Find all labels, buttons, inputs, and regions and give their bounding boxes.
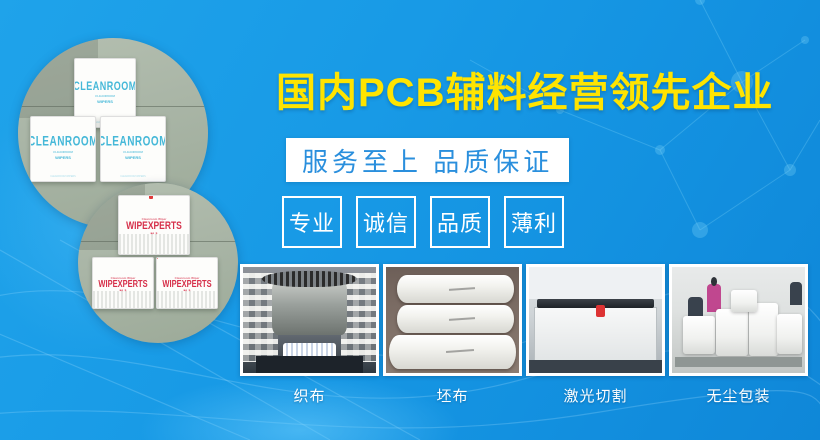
pack-sub-text: CLEANROOM xyxy=(53,150,73,154)
wipe-bale xyxy=(683,316,715,354)
process-thumb-cleanroom-packing[interactable] xyxy=(669,264,808,376)
process-thumb-weaving[interactable] xyxy=(240,264,379,376)
pack-sub-text: CLEANROOM xyxy=(95,94,115,98)
work-bench xyxy=(675,357,803,367)
pack-product-text: WIPERS xyxy=(97,99,113,104)
worker-figure xyxy=(790,282,802,305)
banner-subtitle-box: 服务至上 品质保证 xyxy=(286,138,569,182)
process-caption: 无尘包装 xyxy=(706,385,770,406)
room-wall xyxy=(529,267,662,299)
pack-product-text: WIPERS xyxy=(55,155,71,160)
process-item-cleanroom-packing[interactable]: 无尘包装 xyxy=(669,264,808,406)
keyword-tag-integrity[interactable]: 诚信 xyxy=(356,196,416,248)
fabric-roll xyxy=(397,305,514,333)
wipexperts-pack-top: Cleanroom Wiper WIPEXPERTS M-3 xyxy=(118,195,190,255)
pack-brand-text: WIPEXPERTS xyxy=(162,278,211,288)
keyword-tag-professional[interactable]: 专业 xyxy=(282,196,342,248)
pack-product-text: WIPERS xyxy=(125,155,141,160)
needle-ring xyxy=(262,271,358,287)
keyword-tag-label: 专业 xyxy=(289,206,335,238)
pack-brand-text: CLEANROOM xyxy=(100,136,166,150)
machine-base xyxy=(256,356,362,373)
fabric-rolls-scene xyxy=(386,267,519,373)
keyword-tag-label: 薄利 xyxy=(511,206,557,238)
worker-figure xyxy=(688,297,703,318)
wipexperts-pack-left: Cleanroom Wiper WIPEXPERTS M-3 xyxy=(92,257,154,309)
process-item-weaving[interactable]: 织布 xyxy=(240,264,379,406)
pack-ridges xyxy=(157,291,217,308)
process-caption: 织布 xyxy=(293,385,325,406)
red-tag xyxy=(156,257,158,259)
machine-drum xyxy=(272,280,346,335)
cleanroom-pack-left: CLEANROOM CLEANROOM WIPERS CLEANROOM WIP… xyxy=(30,116,96,182)
worker-figure xyxy=(707,284,722,312)
banner-subtitle-text: 服务至上 品质保证 xyxy=(302,142,553,179)
roll-marking xyxy=(449,287,475,291)
cleanroom-packing-scene xyxy=(672,267,805,373)
wipe-bale xyxy=(777,314,802,354)
pack-ridges xyxy=(119,234,189,254)
wipe-bale xyxy=(731,290,758,311)
machine-base xyxy=(529,360,662,373)
process-item-greige-fabric[interactable]: 坯布 xyxy=(383,264,522,406)
process-photo-strip: 织布 坯布 激光切割 xyxy=(240,264,808,406)
fabric-roll xyxy=(389,335,517,369)
banner-headline: 国内PCB辅料经营领先企业 xyxy=(276,72,796,114)
knitting-machine-scene xyxy=(243,267,376,373)
promo-banner: CLEANROOM CLEANROOM WIPERS CLEANROOM WIP… xyxy=(0,0,820,440)
process-item-laser-cutting[interactable]: 激光切割 xyxy=(526,264,665,406)
wipexperts-pack-right: Cleanroom Wiper WIPEXPERTS M-3 xyxy=(156,257,218,309)
keyword-tag-quality[interactable]: 品质 xyxy=(430,196,490,248)
keyword-tag-label: 诚信 xyxy=(363,206,409,238)
wipe-bale xyxy=(716,309,748,356)
keyword-tag-lowmargin[interactable]: 薄利 xyxy=(504,196,564,248)
pack-foot-text: CLEANROOM WIPERS xyxy=(50,175,76,178)
pack-sub-text: CLEANROOM xyxy=(123,150,143,154)
pack-foot-text: CLEANROOM WIPERS xyxy=(120,175,146,178)
roll-marking xyxy=(449,317,475,321)
fabric-roll xyxy=(397,275,514,303)
pack-ridges xyxy=(93,291,153,308)
keyword-tag-row: 专业 诚信 品质 薄利 xyxy=(282,196,564,248)
process-caption: 坯布 xyxy=(436,385,468,406)
laser-cutter-scene xyxy=(529,267,662,373)
pack-brand-text: WIPEXPERTS xyxy=(126,220,182,231)
pack-brand-text: CLEANROOM xyxy=(30,136,96,150)
wipexperts-packs-photo: Cleanroom Wiper WIPEXPERTS M-3 Cleanroom… xyxy=(78,183,238,343)
pack-brand-text: CLEANROOM xyxy=(74,81,136,93)
process-caption: 激光切割 xyxy=(563,385,627,406)
red-tag xyxy=(149,195,153,199)
cleanroom-pack-right: CLEANROOM CLEANROOM WIPERS CLEANROOM WIP… xyxy=(100,116,166,182)
keyword-tag-label: 品质 xyxy=(437,206,483,238)
process-thumb-greige-fabric[interactable] xyxy=(383,264,522,376)
roll-marking xyxy=(446,349,474,353)
process-thumb-laser-cutting[interactable] xyxy=(526,264,665,376)
pack-brand-text: WIPEXPERTS xyxy=(98,278,147,288)
laser-head xyxy=(596,305,605,317)
